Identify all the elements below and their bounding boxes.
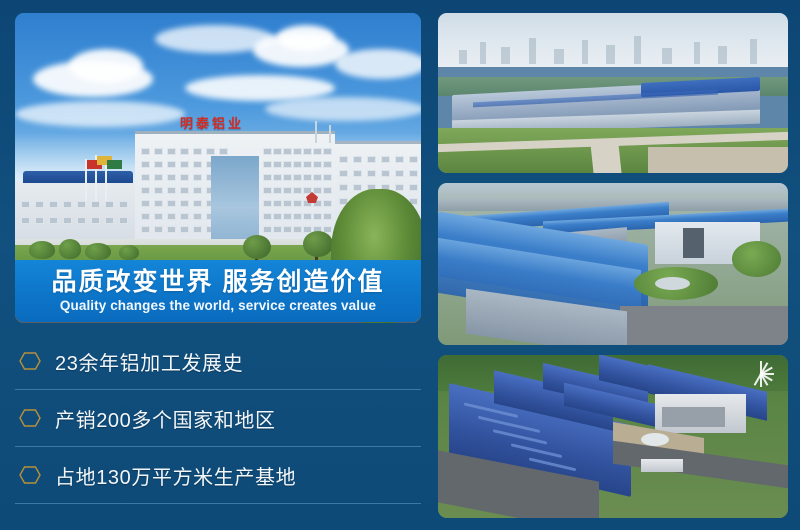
window	[263, 174, 272, 181]
window	[293, 161, 302, 168]
fact-item[interactable]: 产销200多个国家和地区	[15, 390, 421, 447]
hexagon-bullet-icon	[19, 464, 41, 486]
window	[141, 148, 150, 155]
window	[141, 187, 150, 194]
window	[141, 200, 150, 207]
window	[193, 200, 202, 207]
window	[323, 213, 332, 220]
slogan-banner: 品质改变世界 服务创造价值 Quality changes the world,…	[15, 260, 421, 322]
tree-cluster	[732, 241, 781, 277]
window	[263, 148, 272, 155]
window	[154, 226, 163, 233]
window	[91, 217, 100, 224]
window	[154, 187, 163, 194]
window	[273, 187, 282, 194]
window	[381, 156, 390, 163]
window	[21, 217, 30, 224]
window	[263, 161, 272, 168]
window	[293, 174, 302, 181]
window	[293, 200, 302, 207]
window	[193, 213, 202, 220]
shrub	[119, 245, 139, 260]
window	[63, 201, 72, 208]
poster-root: 明泰铝业	[0, 0, 800, 530]
window	[141, 213, 150, 220]
side-building-left	[15, 181, 137, 239]
hexagon-bullet-icon	[19, 350, 41, 372]
window	[193, 148, 202, 155]
window	[180, 187, 189, 194]
window	[219, 148, 228, 155]
window	[323, 148, 332, 155]
window	[283, 148, 292, 155]
window	[263, 187, 272, 194]
window	[313, 148, 322, 155]
window	[167, 200, 176, 207]
window	[167, 161, 176, 168]
window	[273, 226, 282, 233]
window	[105, 201, 114, 208]
roof-mast	[315, 121, 317, 143]
window	[193, 161, 202, 168]
glass-curtain-wall	[211, 156, 259, 242]
slogan-chinese: 品质改变世界 服务创造价值	[52, 269, 385, 295]
window	[180, 161, 189, 168]
window	[263, 200, 272, 207]
window	[353, 170, 362, 177]
window	[283, 187, 292, 194]
tower-core	[683, 228, 704, 257]
window	[180, 200, 189, 207]
window	[141, 161, 150, 168]
fact-label: 产销200多个国家和地区	[55, 404, 276, 433]
slogan-english: Quality changes the world, service creat…	[60, 298, 376, 313]
window	[154, 148, 163, 155]
fountain	[655, 277, 690, 290]
window	[167, 213, 176, 220]
window	[141, 226, 150, 233]
window	[367, 156, 376, 163]
window	[409, 184, 418, 191]
window	[180, 226, 189, 233]
window	[303, 161, 312, 168]
hexagon-bullet-icon	[19, 407, 41, 429]
window	[339, 184, 348, 191]
window	[283, 200, 292, 207]
roof-mast	[329, 125, 331, 143]
window	[154, 213, 163, 220]
window	[293, 226, 302, 233]
shrub	[29, 241, 55, 259]
tree	[243, 235, 271, 259]
window	[323, 174, 332, 181]
window	[193, 174, 202, 181]
window	[273, 148, 282, 155]
window	[409, 170, 418, 177]
main-office-building	[135, 131, 335, 239]
window	[353, 156, 362, 163]
tree	[303, 231, 333, 257]
fact-item[interactable]: 占地130万平方米生产基地	[15, 447, 421, 504]
window	[119, 201, 128, 208]
window	[273, 213, 282, 220]
window	[77, 201, 86, 208]
window	[283, 161, 292, 168]
window	[21, 201, 30, 208]
window	[283, 174, 292, 181]
window	[180, 148, 189, 155]
cloud-shape	[69, 49, 143, 83]
window	[381, 170, 390, 177]
cloud-shape	[335, 49, 421, 79]
window	[105, 217, 114, 224]
window	[395, 184, 404, 191]
hero-photo: 明泰铝业	[15, 13, 421, 323]
window-grid	[15, 181, 137, 239]
fact-label: 占地130万平方米生产基地	[55, 461, 296, 490]
tower-sign	[687, 219, 743, 225]
window	[119, 217, 128, 224]
thumb-aerial-plant-1	[438, 13, 788, 173]
window	[154, 174, 163, 181]
window	[323, 187, 332, 194]
window	[167, 187, 176, 194]
fact-item[interactable]: 23余年铝加工发展史	[15, 333, 421, 390]
cloud-shape	[277, 25, 335, 51]
window	[273, 200, 282, 207]
window	[283, 226, 292, 233]
window	[263, 213, 272, 220]
window	[263, 226, 272, 233]
fact-label: 23余年铝加工发展史	[55, 347, 243, 376]
window	[154, 161, 163, 168]
window	[167, 226, 176, 233]
window	[339, 170, 348, 177]
window	[303, 148, 312, 155]
window	[273, 174, 282, 181]
window	[49, 217, 58, 224]
window	[293, 187, 302, 194]
render-entry-glass	[662, 407, 725, 427]
window	[367, 170, 376, 177]
window	[35, 217, 44, 224]
left-column: 明泰铝业	[15, 13, 421, 518]
window	[206, 148, 215, 155]
window	[180, 213, 189, 220]
parking-lot	[620, 306, 788, 345]
window	[293, 148, 302, 155]
window	[193, 226, 202, 233]
window	[353, 184, 362, 191]
window	[49, 201, 58, 208]
window	[273, 161, 282, 168]
city-skyline	[438, 29, 788, 64]
shrub	[59, 239, 81, 259]
window	[323, 200, 332, 207]
window	[63, 217, 72, 224]
window	[141, 174, 150, 181]
window	[180, 174, 189, 181]
window	[313, 161, 322, 168]
window	[303, 187, 312, 194]
window	[167, 148, 176, 155]
window	[283, 213, 292, 220]
window	[313, 174, 322, 181]
access-road	[590, 144, 621, 173]
window	[303, 213, 312, 220]
window	[409, 156, 418, 163]
render-gatehouse	[641, 459, 683, 472]
rooftop-sign-text: 明泰铝业	[180, 113, 290, 129]
storage-yard	[648, 147, 788, 173]
window	[339, 156, 348, 163]
window	[303, 174, 312, 181]
window	[35, 201, 44, 208]
window	[313, 187, 322, 194]
cloud-shape	[15, 101, 185, 127]
fact-list: 23余年铝加工发展史 产销200多个国家和地区 占地130万平方米生产基地	[15, 333, 421, 504]
window	[77, 217, 86, 224]
flag-icon	[107, 160, 122, 169]
window	[293, 213, 302, 220]
shrub	[85, 243, 111, 260]
right-column	[438, 13, 788, 518]
window	[395, 170, 404, 177]
sunburst-icon	[746, 361, 776, 387]
window	[193, 187, 202, 194]
thumb-site-rendering	[438, 355, 788, 518]
window	[395, 156, 404, 163]
window	[91, 201, 100, 208]
thumb-aerial-plant-2	[438, 183, 788, 345]
window	[167, 174, 176, 181]
window	[154, 200, 163, 207]
window	[323, 161, 332, 168]
window	[313, 213, 322, 220]
